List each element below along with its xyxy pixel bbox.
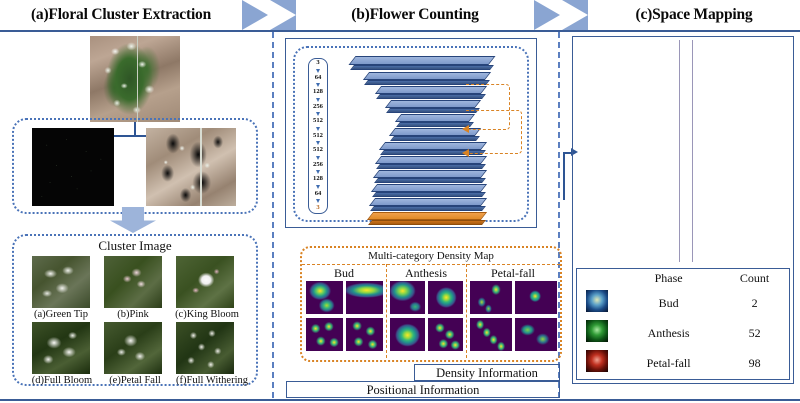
density-category-anthesis: Anthesis <box>388 266 464 281</box>
cluster-image-full-withering <box>176 322 234 374</box>
phase-column-header: Phase <box>617 269 720 288</box>
net-slab-11 <box>372 198 484 206</box>
heatmap-anthesis-3 <box>390 318 425 351</box>
slab-top <box>371 184 487 192</box>
channel-arrow-1 <box>316 83 320 87</box>
cluster-caption-full-withering: (f)Full Withering <box>166 375 258 386</box>
density-information-label: Density Information <box>414 366 560 381</box>
slab-top <box>369 198 487 206</box>
heatmap-bud-2 <box>346 281 383 314</box>
heatmap-bud-4 <box>346 318 383 351</box>
channel-arrow-5 <box>316 141 320 145</box>
panel-header-a-label: (a)Floral Cluster Extraction <box>0 0 242 30</box>
slab-side <box>368 220 486 225</box>
binary-mask-image <box>32 128 114 206</box>
panel-header-a: (a)Floral Cluster Extraction <box>0 0 268 30</box>
slab-top <box>375 156 487 164</box>
slab-side <box>350 65 494 70</box>
pole-line <box>137 36 139 122</box>
channel-arrow-0 <box>316 69 320 73</box>
net-slab-4 <box>388 100 478 108</box>
slab-top <box>395 114 475 122</box>
channel-arrow-7 <box>316 170 320 174</box>
table-header-row: Phase Count <box>577 269 789 288</box>
net-slab-1 <box>352 56 492 65</box>
cluster-caption-pink: (b)Pink <box>99 309 167 320</box>
phase-count: 98 <box>720 348 789 378</box>
panel-header-c-label: (c)Space Mapping <box>588 0 800 30</box>
cluster-image-pink <box>104 256 162 308</box>
cluster-image-label: Cluster Image <box>12 238 258 254</box>
panel-header-b: (b)Flower Counting <box>270 0 560 30</box>
cluster-caption-full-bloom: (d)Full Bloom <box>19 375 105 386</box>
pole-line <box>200 128 202 206</box>
density-category-bud: Bud <box>304 266 384 281</box>
channel-value-7: 256 <box>313 162 323 169</box>
channel-arrow-9 <box>316 199 320 203</box>
cluster-caption-green-tip: (a)Green Tip <box>20 309 102 320</box>
swatch-column-header <box>577 269 617 288</box>
cluster-caption-king-bloom: (c)King Bloom <box>163 309 251 320</box>
channel-value-0: 3 <box>316 60 319 67</box>
phase-name: Anthesis <box>617 318 720 348</box>
positional-information-label: Positional Information <box>286 383 560 398</box>
channel-value-1: 64 <box>315 75 322 82</box>
phase-count: 2 <box>720 288 789 318</box>
net-slab-10 <box>374 184 484 192</box>
count-column-header: Count <box>720 269 789 288</box>
channel-value-6: 512 <box>313 147 323 154</box>
cluster-image-full-bloom <box>32 322 90 374</box>
phase-count: 52 <box>720 318 789 348</box>
net-slab-9 <box>376 170 484 178</box>
density-category-petal-fall: Petal-fall <box>468 266 558 281</box>
cluster-caption-petal-fall: (e)Petal Fall <box>96 375 174 386</box>
cluster-image-green-tip <box>32 256 90 308</box>
channel-value-8: 128 <box>313 176 323 183</box>
density-sep-2 <box>466 264 467 358</box>
density-sep-top <box>302 264 560 265</box>
petal-fall-swatch <box>586 350 608 372</box>
net-slab-5-bottleneck <box>398 114 472 122</box>
slab-side <box>372 192 486 197</box>
space-mapping-result-image <box>576 40 790 262</box>
phase-name: Bud <box>617 288 720 318</box>
figure-bottom-rule <box>0 399 800 401</box>
bud-swatch-cell <box>577 288 617 318</box>
net-slab-8 <box>378 156 484 164</box>
phase-name: Petal-fall <box>617 348 720 378</box>
bud-swatch <box>586 290 608 312</box>
phase-count-table-element: Phase Count Bud 2 Anthesis 52 <box>577 269 789 378</box>
header-underline <box>0 30 800 32</box>
channel-arrow-8 <box>316 185 320 189</box>
heatmap-petalfall-3 <box>470 318 512 351</box>
skip-connection-lower <box>466 110 522 154</box>
heatmap-anthesis-1 <box>390 281 425 314</box>
panel-header-row: (a)Floral Cluster Extraction (b)Flower C… <box>0 0 800 30</box>
slab-top <box>367 212 487 220</box>
to-panel-c-stem <box>563 152 565 200</box>
panel-header-c: (c)Space Mapping <box>562 0 800 30</box>
heatmap-petalfall-1 <box>470 281 512 314</box>
wire-line-2 <box>692 40 693 262</box>
phase-count-table: Phase Count Bud 2 Anthesis 52 <box>576 268 790 380</box>
channel-ladder: 364128256512512512256128643 <box>308 60 328 212</box>
density-sep-1 <box>386 264 387 358</box>
heatmap-anthesis-4 <box>428 318 463 351</box>
net-output-layer <box>370 212 484 220</box>
orchard-aerial-image <box>90 36 180 122</box>
heatmap-anthesis-2 <box>428 281 463 314</box>
channel-arrow-3 <box>316 112 320 116</box>
slab-side <box>376 164 486 169</box>
petal-fall-swatch-cell <box>577 348 617 378</box>
slab-side <box>370 206 486 211</box>
density-map-title: Multi-category Density Map <box>300 250 562 262</box>
table-body: Bud 2 Anthesis 52 Petal-fall 98 <box>577 288 789 378</box>
channel-value-10: 3 <box>316 205 319 212</box>
channel-arrow-6 <box>316 156 320 160</box>
anthesis-swatch-cell <box>577 318 617 348</box>
channel-arrow-4 <box>316 127 320 131</box>
segmented-background-image <box>146 128 236 206</box>
slab-top <box>348 56 495 65</box>
heatmap-bud-1 <box>306 281 343 314</box>
skip-lower-arrowhead <box>462 149 469 157</box>
channel-value-9: 64 <box>315 191 322 198</box>
panel-header-b-label: (b)Flower Counting <box>296 0 534 30</box>
channel-value-2: 128 <box>313 89 323 96</box>
cluster-image-petal-fall <box>104 322 162 374</box>
figure-root: (a)Floral Cluster Extraction (b)Flower C… <box>0 0 800 403</box>
net-slab-2 <box>366 72 488 80</box>
heatmap-petalfall-2 <box>515 281 557 314</box>
wire-line-1 <box>679 40 680 262</box>
channel-value-5: 512 <box>313 133 323 140</box>
channel-arrow-2 <box>316 98 320 102</box>
heatmap-petalfall-4 <box>515 318 557 351</box>
channel-value-4: 512 <box>313 118 323 125</box>
cluster-image-king-bloom <box>176 256 234 308</box>
slab-top <box>373 170 487 178</box>
table-row: Anthesis 52 <box>577 318 789 348</box>
slab-side <box>374 178 486 183</box>
table-head: Phase Count <box>577 269 789 288</box>
table-row: Petal-fall 98 <box>577 348 789 378</box>
panel-divider-a-b <box>272 32 274 398</box>
heatmap-bud-3 <box>306 318 343 351</box>
table-row: Bud 2 <box>577 288 789 318</box>
channel-value-3: 256 <box>313 104 323 111</box>
slab-top <box>363 72 491 80</box>
anthesis-swatch <box>586 320 608 342</box>
